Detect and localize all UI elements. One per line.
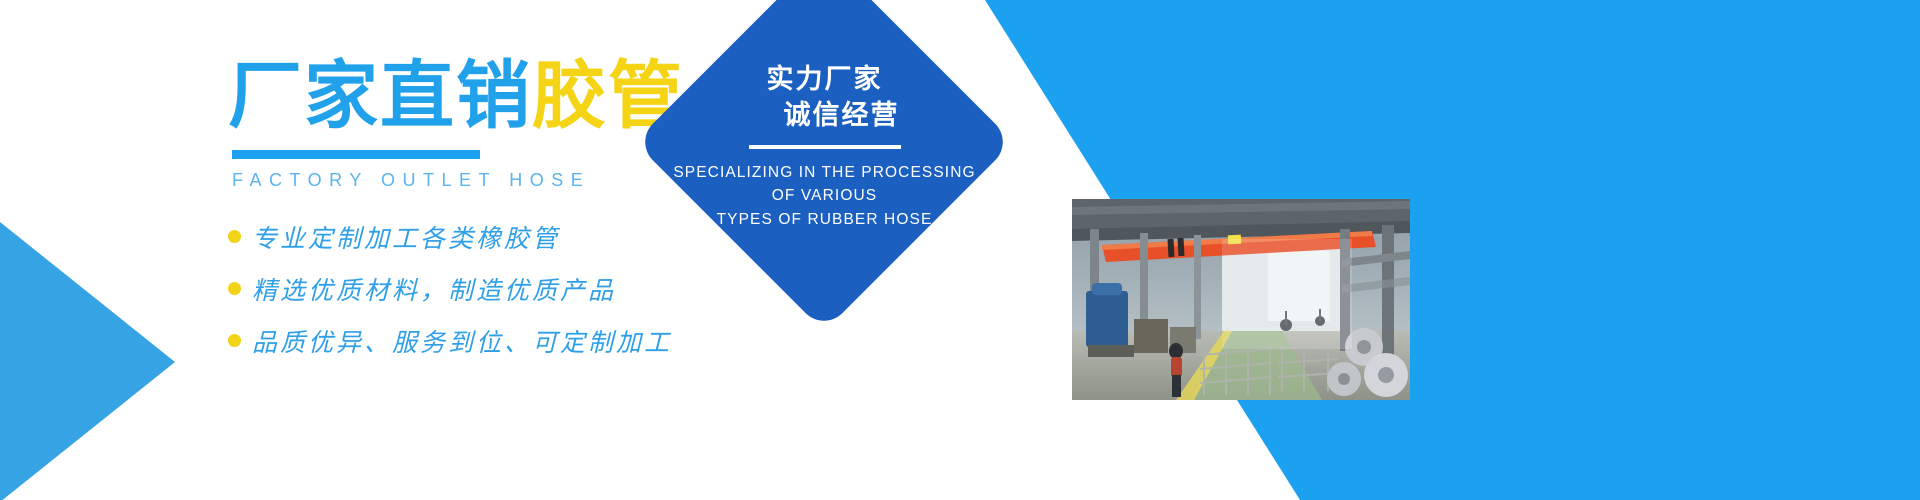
title-underline-rule	[232, 150, 480, 159]
headline-block: 厂家直销胶管 FACTORY OUTLET HOSE 专业定制加工各类橡胶管 精…	[228, 58, 684, 375]
factory-photo-graphic	[1072, 199, 1410, 400]
diamond-badge-content: 实力厂家 诚信经营 SPECIALIZING IN THE PROCESSING…	[637, 0, 1012, 330]
list-item: 精选优质材料，制造优质产品	[228, 271, 684, 307]
feature-text: 专业定制加工各类橡胶管	[252, 219, 560, 255]
badge-chinese-lines: 实力厂家 诚信经营	[750, 62, 900, 134]
badge-divider	[749, 145, 901, 149]
diamond-badge: 实力厂家 诚信经营 SPECIALIZING IN THE PROCESSING…	[637, 0, 1012, 330]
badge-en-line-3: TYPES OF RUBBER HOSE	[673, 208, 975, 232]
factory-photo	[1072, 199, 1410, 400]
badge-cn-line-2: 诚信经营	[750, 98, 900, 134]
badge-en-line-2: OF VARIOUS	[673, 184, 975, 208]
feature-list: 专业定制加工各类橡胶管 精选优质材料，制造优质产品 品质优异、服务到位、可定制加…	[228, 219, 684, 359]
badge-cn-line-1: 实力厂家	[750, 62, 900, 98]
bullet-dot-icon	[228, 334, 241, 347]
page-title: 厂家直销胶管	[228, 58, 684, 136]
badge-english-lines: SPECIALIZING IN THE PROCESSING OF VARIOU…	[673, 161, 975, 232]
headline-primary: 厂家直销	[228, 53, 532, 139]
headline-subtitle-english: FACTORY OUTLET HOSE	[232, 170, 684, 191]
feature-text: 精选优质材料，制造优质产品	[252, 271, 616, 307]
list-item: 专业定制加工各类橡胶管	[228, 219, 684, 255]
bullet-dot-icon	[228, 282, 241, 295]
badge-en-line-1: SPECIALIZING IN THE PROCESSING	[673, 161, 975, 185]
promo-banner: 厂家直销胶管 FACTORY OUTLET HOSE 专业定制加工各类橡胶管 精…	[0, 0, 1920, 500]
feature-text: 品质优异、服务到位、可定制加工	[252, 323, 672, 359]
bullet-dot-icon	[228, 230, 241, 243]
left-arrow-wedge	[0, 222, 175, 500]
list-item: 品质优异、服务到位、可定制加工	[228, 323, 684, 359]
